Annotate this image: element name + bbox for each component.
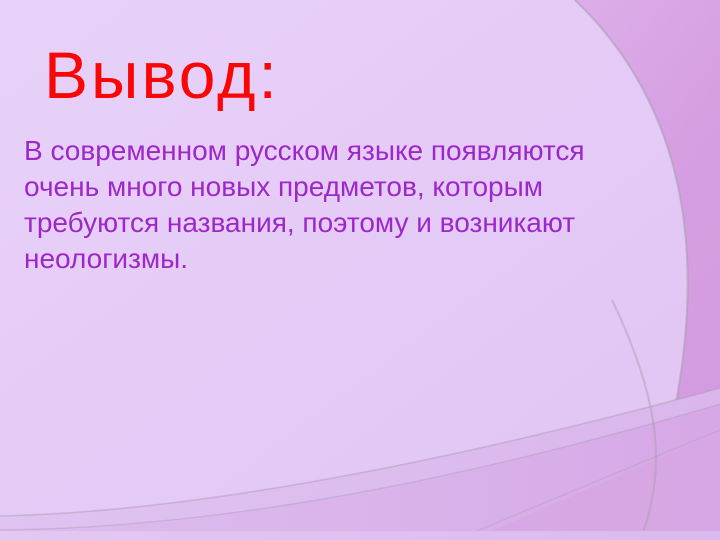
body-line-2: очень много новых предметов, которым <box>24 169 692 205</box>
page-title: Вывод: <box>44 36 280 114</box>
body-paragraph: В современном русском языке появляются о… <box>24 133 692 277</box>
slide-canvas: Вывод: В современном русском языке появл… <box>0 0 720 540</box>
body-line-1: В современном русском языке появляются <box>24 133 692 169</box>
body-line-4: неологизмы. <box>24 241 692 277</box>
body-line-3: требуются названия, поэтому и возникают <box>24 205 692 241</box>
slide-content: Вывод: В современном русском языке появл… <box>0 0 720 540</box>
